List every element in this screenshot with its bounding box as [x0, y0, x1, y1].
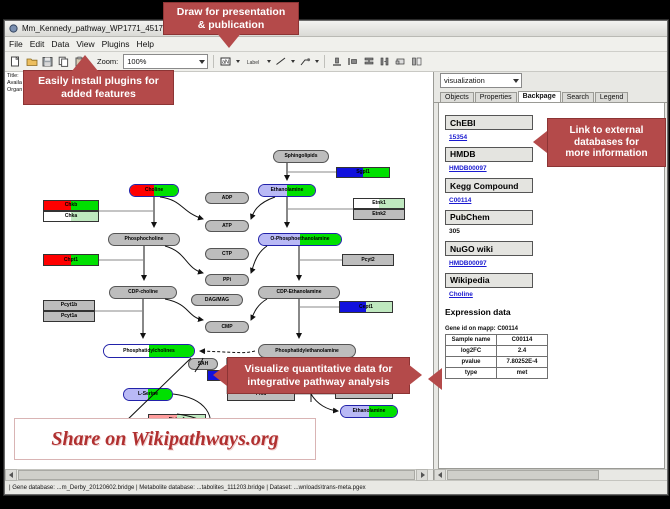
align-top-icon[interactable] [330, 55, 343, 68]
zoom-label: Zoom: [97, 57, 118, 66]
node-label: Pcyt1b [61, 303, 77, 308]
node-label: Ethanolamine [353, 409, 386, 414]
node-label: Etnk2 [372, 212, 386, 217]
tab-objects[interactable]: Objects [440, 92, 474, 103]
new-file-icon[interactable] [9, 55, 22, 68]
tab-legend[interactable]: Legend [595, 92, 628, 103]
callout-visualize: Visualize quantitative data for integrat… [227, 357, 410, 394]
callout-expression-arrow [428, 368, 442, 390]
callout-plugins: Easily install plugins for added feature… [23, 70, 174, 105]
menu-item-plugins[interactable]: Plugins [102, 39, 130, 49]
node-label: SAH [198, 362, 209, 367]
svg-text:Label: Label [247, 60, 259, 66]
visualization-combobox[interactable]: visualization [440, 73, 522, 88]
menu-item-file[interactable]: File [9, 39, 23, 49]
chevron-down-icon [513, 79, 519, 83]
node-label: PPi [223, 278, 231, 283]
zoom-value: 100% [127, 57, 146, 66]
copy-icon[interactable] [57, 55, 70, 68]
db-value-pubchem: 305 [449, 228, 664, 235]
callout-draw-arrow [216, 32, 242, 48]
panel-scrollbar[interactable] [434, 469, 667, 480]
callout-share: Share on Wikipathways.org [14, 418, 316, 460]
node-label: Pcyt2 [361, 258, 374, 263]
db-header-hmdb: HMDB [445, 147, 533, 162]
screenshot-root: Mm_Kennedy_pathway_WP1771_45176.gpml Fil… [0, 0, 670, 509]
node-label: O-Phosphoethanolamine [270, 237, 329, 242]
expression-key: log2FC [446, 346, 497, 357]
db-link-wikipedia[interactable]: Choline [449, 291, 664, 298]
callout-plugins-arrow [72, 55, 98, 71]
node-label: Chkb [65, 203, 78, 208]
zoom-combobox[interactable]: 100% [123, 54, 208, 69]
callout-links-arrow [533, 131, 547, 153]
distribute-vertical-icon[interactable] [362, 55, 375, 68]
label-icon[interactable]: Label [243, 55, 263, 68]
menu-item-help[interactable]: Help [137, 39, 154, 49]
status-text: | Gene database: ...m_Derby_20120602.bri… [9, 485, 366, 491]
order-icon[interactable] [410, 55, 423, 68]
anchor-dropdown-icon[interactable] [315, 60, 319, 63]
node-label: L-Serine [138, 392, 158, 397]
meta-availability-label: Availa [7, 80, 22, 87]
expression-key: Sample name [446, 335, 497, 346]
node-label: ATP [222, 224, 232, 229]
db-link-kegg-compound[interactable]: C00114 [449, 197, 664, 204]
node-label: DAG/MAG [205, 298, 229, 303]
expression-data-header: Expression data [445, 307, 664, 317]
node-label: Ethanolamine [271, 188, 304, 193]
toolbar-separator-2 [324, 55, 325, 68]
share-text: Share on Wikipathways.org [51, 428, 278, 451]
tab-properties[interactable]: Properties [475, 92, 517, 103]
expression-row: pvalue7.80252E-4 [446, 357, 548, 368]
node-label: CDP-Ethanolamine [276, 290, 321, 295]
menu-bar: File Edit Data View Plugins Help [5, 37, 667, 52]
svg-text:aN: aN [222, 60, 229, 66]
callout-visualize-arrow-left [213, 364, 227, 386]
expression-table: Sample nameC00114log2FC2.4pvalue7.80252E… [445, 334, 548, 379]
meta-title-label: Title: [7, 73, 22, 80]
meta-organism-label: Organ [7, 87, 22, 94]
open-folder-icon[interactable] [25, 55, 38, 68]
expression-row: typemet [446, 368, 548, 379]
db-header-wikipedia: Wikipedia [445, 273, 533, 288]
node-label: Cept1 [359, 305, 373, 310]
gene-id-label: Gene id on mapp: C00114 [445, 326, 664, 332]
node-label: Phosphatidylcholines [123, 349, 175, 354]
expression-row: log2FC2.4 [446, 346, 548, 357]
node-label: CDP-choline [128, 290, 158, 295]
align-left-icon[interactable] [346, 55, 359, 68]
node-label: Phosphatidylethanolamine [275, 349, 339, 354]
tab-backpage[interactable]: Backpage [518, 91, 561, 103]
db-header-nugo-wiki: NuGO wiki [445, 241, 533, 256]
node-label: Chka [65, 214, 77, 219]
expression-value: 2.4 [497, 346, 548, 357]
line-icon[interactable] [274, 55, 287, 68]
save-icon[interactable] [41, 55, 54, 68]
canvas-meta-header: Title: Availa Organ [7, 73, 22, 94]
callout-draw: Draw for presentation & publication [163, 2, 299, 35]
menu-item-view[interactable]: View [76, 39, 94, 49]
anchor-icon[interactable] [298, 55, 311, 68]
group-icon[interactable] [394, 55, 407, 68]
menu-item-data[interactable]: Data [51, 39, 69, 49]
side-panel-tabs: Objects Properties Backpage Search Legen… [434, 89, 667, 103]
datanode-dropdown-icon[interactable] [236, 60, 240, 63]
tab-search[interactable]: Search [562, 92, 594, 103]
toolbar-separator [213, 55, 214, 68]
menu-item-edit[interactable]: Edit [30, 39, 45, 49]
node-label: Pcyt1a [61, 314, 77, 319]
db-header-chebi: ChEBI [445, 115, 533, 130]
expression-value: met [497, 368, 548, 379]
node-label: Choline [145, 188, 163, 193]
scroll-thumb[interactable] [447, 470, 599, 480]
expression-key: type [446, 368, 497, 379]
node-label: Chpt1 [64, 258, 78, 263]
node-label: Phosphocholine [125, 237, 164, 242]
expression-value: 7.80252E-4 [497, 357, 548, 368]
visualization-value: visualization [444, 76, 485, 85]
node-label: CTP [222, 252, 232, 257]
db-header-kegg-compound: Kegg Compound [445, 178, 533, 193]
distribute-horizontal-icon[interactable] [378, 55, 391, 68]
status-bar: | Gene database: ...m_Derby_20120602.bri… [5, 480, 667, 494]
label-dropdown-icon[interactable] [267, 60, 271, 63]
node-label: Sphingolipids [284, 154, 317, 159]
toolbar: Zoom: 100% aN Label [5, 52, 667, 72]
window-titlebar: Mm_Kennedy_pathway_WP1771_45176.gpml [5, 21, 667, 37]
visualization-bar: visualization [434, 72, 667, 89]
node-label: CMP [221, 325, 232, 330]
expression-row: Sample nameC00114 [446, 335, 548, 346]
node-label: Sgpl1 [356, 170, 370, 175]
app-icon [9, 24, 18, 33]
callout-visualize-arrow-right [408, 364, 422, 386]
expression-key: pvalue [446, 357, 497, 368]
callout-links: Link to external databases for more info… [547, 118, 666, 167]
node-label: ADP [222, 196, 233, 201]
datanode-icon[interactable]: aN [219, 55, 232, 68]
chevron-down-icon [199, 60, 205, 64]
node-label: Etnk1 [372, 201, 386, 206]
expression-value: C00114 [497, 335, 548, 346]
db-header-pubchem: PubChem [445, 210, 533, 225]
line-dropdown-icon[interactable] [291, 60, 295, 63]
db-link-nugo-wiki[interactable]: HMDB00097 [449, 260, 664, 267]
